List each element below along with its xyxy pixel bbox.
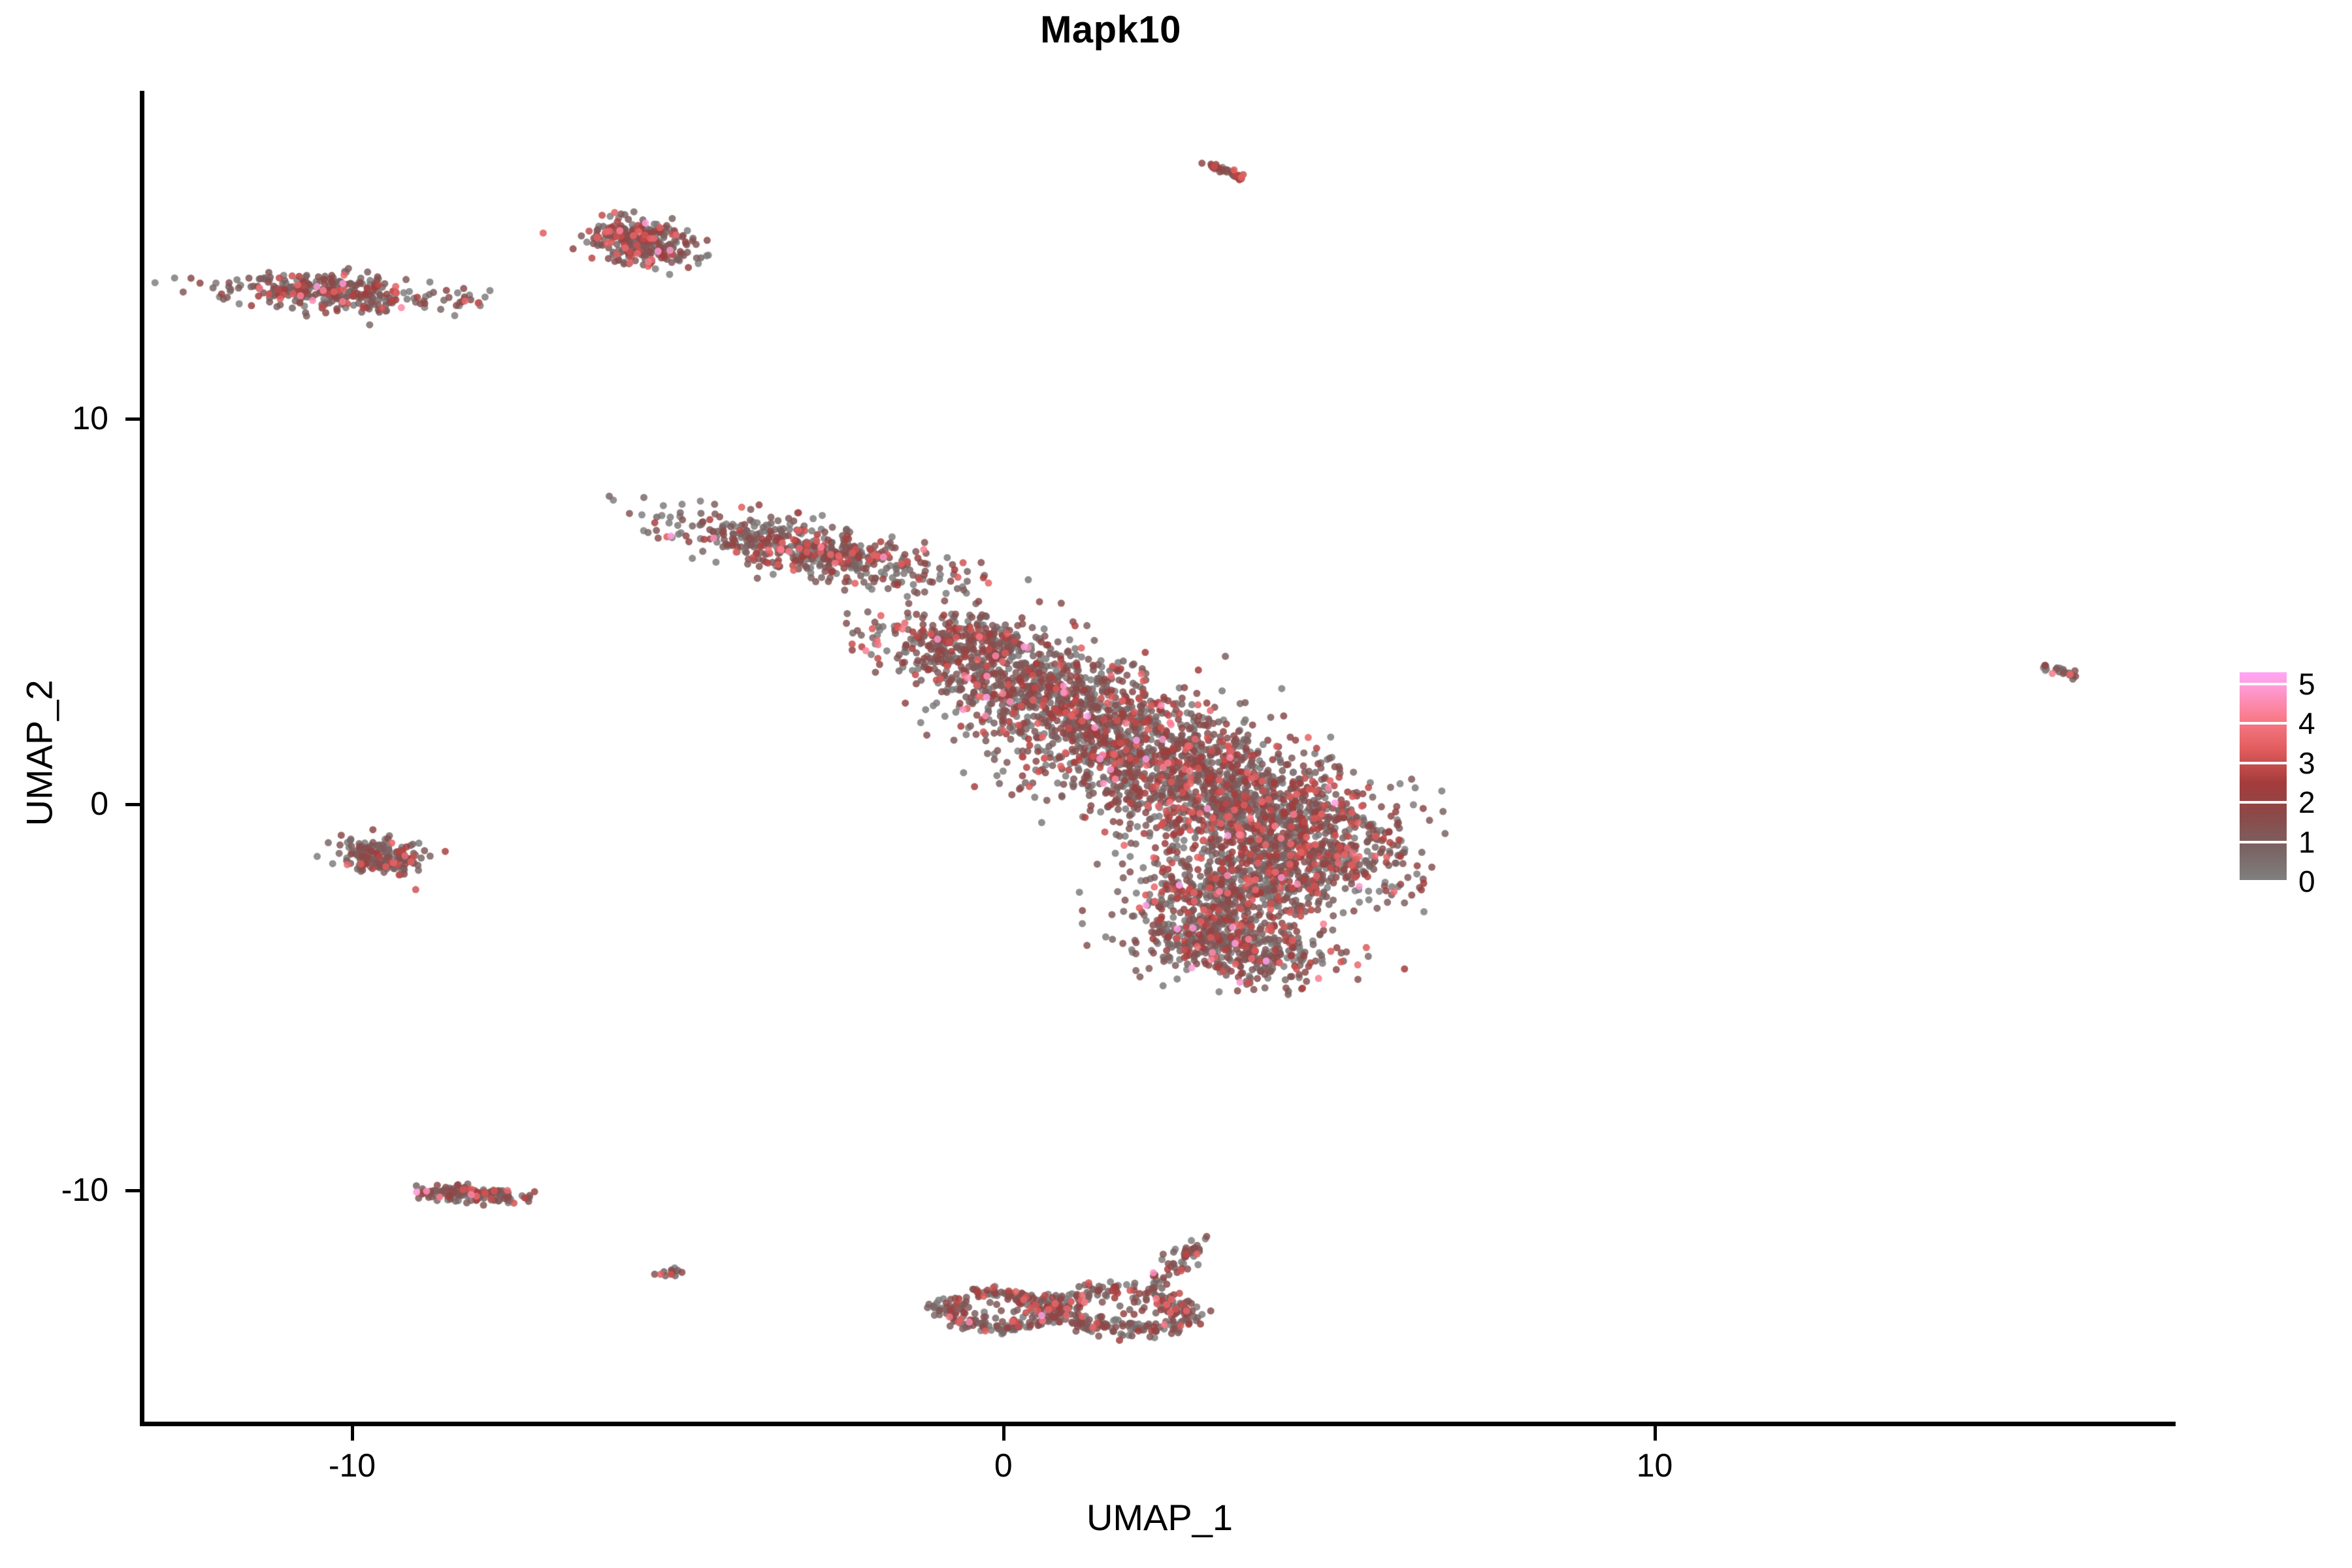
x-axis-title: UMAP_1	[144, 1496, 2176, 1539]
x-axis-tick-label: -10	[254, 1449, 450, 1482]
y-axis-tick-label: -10	[0, 1173, 108, 1206]
legend-tick-label: 5	[2298, 669, 2315, 699]
page-title: Mapk10	[0, 7, 2221, 54]
legend-tick-label: 3	[2298, 748, 2315, 778]
y-axis-line	[140, 91, 144, 1425]
legend-colorbar	[2240, 672, 2287, 881]
legend-tick-label: 4	[2298, 708, 2315, 738]
x-axis-line	[140, 1422, 2176, 1426]
legend-tick-mark	[2240, 762, 2287, 764]
color-legend[interactable]: 5 4 3 2 1 0	[2234, 660, 2345, 889]
legend-tick-label: 0	[2298, 866, 2315, 896]
legend-tick-mark	[2240, 683, 2287, 685]
figure-root: Mapk10 10 0 -10 -10 0 10 UMAP_1 UMAP_2 5…	[0, 0, 2352, 1568]
y-axis-title: UMAP_2	[18, 459, 61, 1047]
x-axis-tick-label: 0	[906, 1449, 1102, 1482]
x-axis-tick-mark	[351, 1426, 354, 1441]
x-axis-tick-mark	[1654, 1426, 1657, 1441]
y-axis-tick-mark	[125, 803, 140, 806]
y-axis-tick-label: 10	[0, 402, 108, 434]
legend-tick-mark	[2240, 841, 2287, 843]
x-axis-tick-mark	[1002, 1426, 1005, 1441]
legend-tick-label: 1	[2298, 827, 2315, 857]
legend-tick-mark	[2240, 801, 2287, 804]
scatter-plot-panel[interactable]	[144, 91, 2176, 1422]
x-axis-tick-label: 10	[1557, 1449, 1753, 1482]
legend-tick-label: 2	[2298, 787, 2315, 817]
legend-tick-mark	[2240, 880, 2287, 883]
y-axis-tick-mark	[125, 417, 140, 421]
legend-tick-mark	[2240, 722, 2287, 725]
y-axis-tick-mark	[125, 1189, 140, 1192]
scatter-points-canvas[interactable]	[144, 91, 2176, 1422]
